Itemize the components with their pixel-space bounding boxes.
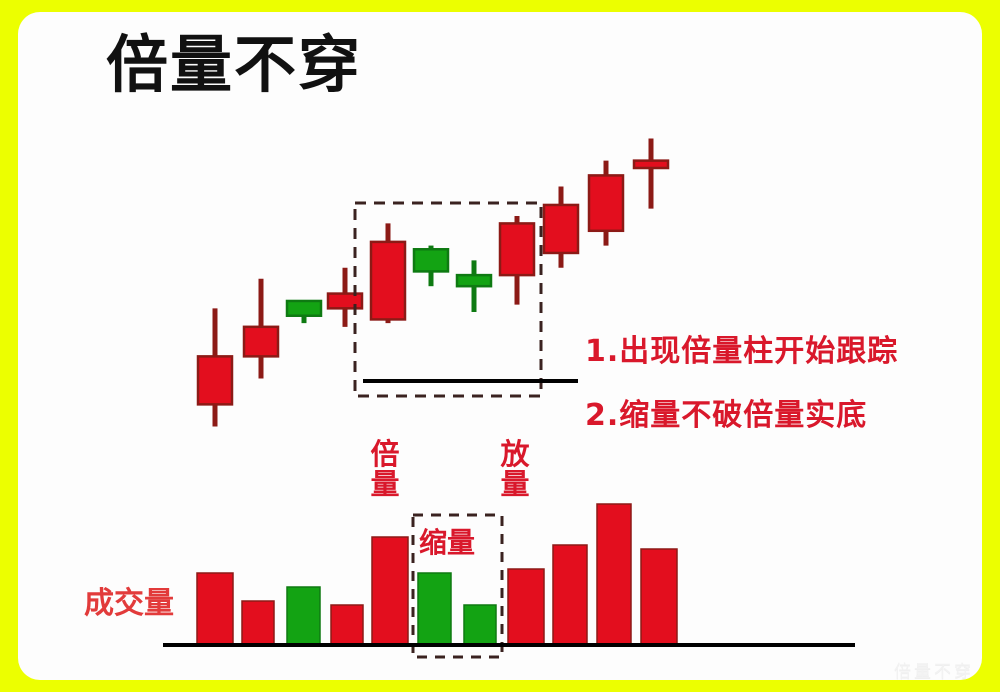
candlestick [371, 223, 405, 323]
label-shrinking-volume: 缩量 [419, 521, 475, 561]
candlestick [544, 186, 578, 267]
candlestick [500, 216, 534, 305]
candlestick [244, 279, 278, 379]
volume-bar [641, 549, 677, 645]
volume-bar [553, 545, 587, 645]
annotation-point-2: 2.缩量不破倍量实底 [585, 390, 867, 434]
annotation-point-1: 1.出现倍量柱开始跟踪 [585, 326, 898, 370]
candlestick [589, 161, 623, 246]
candlestick [634, 138, 668, 208]
volume-bar [597, 504, 631, 645]
candlestick [287, 301, 321, 323]
candlestick [457, 260, 491, 312]
label-volume-axis: 成交量 [84, 578, 174, 622]
candlestick [198, 308, 232, 426]
label-expanding-volume: 放量 [499, 440, 531, 499]
label-doubled-volume: 倍量 [369, 440, 401, 499]
volume-bar [331, 605, 363, 645]
volume-bar [508, 569, 544, 645]
volume-bar [242, 601, 274, 645]
volume-bar [197, 573, 233, 645]
volume-bar [287, 587, 320, 645]
candlestick [414, 246, 448, 287]
volume-bar [464, 605, 496, 645]
volume-bar [372, 537, 408, 645]
candlestick-series [198, 138, 668, 426]
candlestick [328, 268, 362, 327]
screenshot-root: 倍量不穿 1.出现倍量柱开始跟踪 2.缩量不破倍量实底 倍量 放量 缩量 成交量… [0, 0, 1000, 692]
volume-bar [418, 573, 451, 645]
watermark-text: 倍量不穿 [894, 657, 974, 682]
